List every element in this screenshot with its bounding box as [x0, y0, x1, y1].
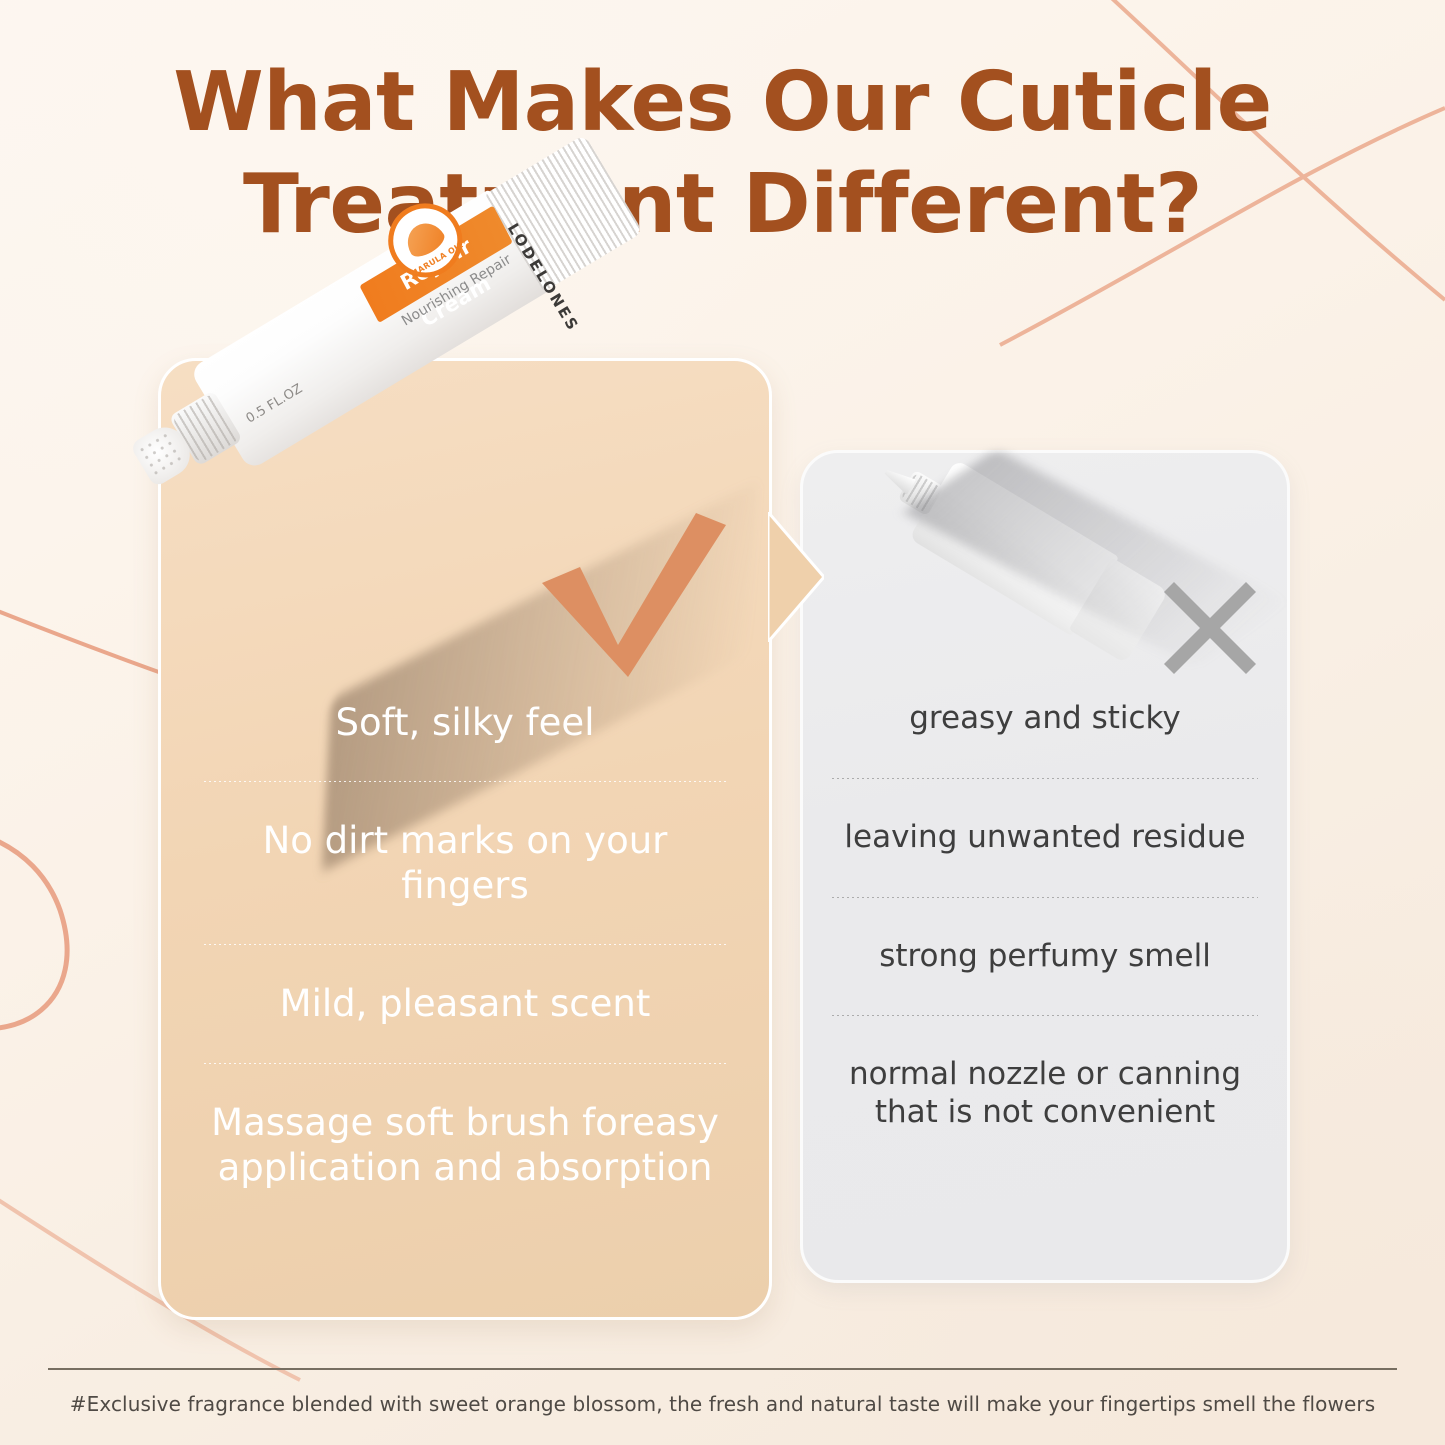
list-item: leaving unwanted residue: [828, 819, 1262, 857]
list-divider: [204, 781, 726, 782]
list-item: Soft, silky feel: [198, 700, 732, 745]
list-item: strong perfumy smell: [828, 938, 1262, 976]
list-divider: [832, 897, 1258, 898]
check-mark-icon: [520, 505, 735, 690]
list-item: greasy and sticky: [828, 700, 1262, 738]
list-item: No dirt marks on your fingers: [198, 818, 732, 908]
list-item: normal nozzle or canning that is not con…: [828, 1056, 1262, 1132]
feature-list-competitor: greasy and sticky leaving unwanted resid…: [828, 700, 1262, 1132]
list-item: Mild, pleasant scent: [198, 981, 732, 1026]
list-divider: [832, 1015, 1258, 1016]
list-divider: [832, 778, 1258, 779]
footer-note: #Exclusive fragrance blended with sweet …: [48, 1392, 1397, 1416]
list-item: Massage soft brush foreasy application a…: [198, 1100, 732, 1190]
feature-list-ours: Soft, silky feel No dirt marks on your f…: [198, 700, 732, 1190]
page-title-line-2: Treatment Different?: [80, 154, 1365, 256]
page-title: What Makes Our Cuticle Treatment Differe…: [0, 52, 1445, 255]
list-divider: [204, 1063, 726, 1064]
deco-line-left-loop: [0, 826, 67, 1029]
footer-divider: [48, 1368, 1397, 1370]
x-mark-icon: [1160, 578, 1260, 678]
list-divider: [204, 944, 726, 945]
card-pointer-chevron: [768, 512, 824, 642]
infographic-canvas: What Makes Our Cuticle Treatment Differe…: [0, 0, 1445, 1445]
page-title-line-1: What Makes Our Cuticle: [80, 52, 1365, 154]
